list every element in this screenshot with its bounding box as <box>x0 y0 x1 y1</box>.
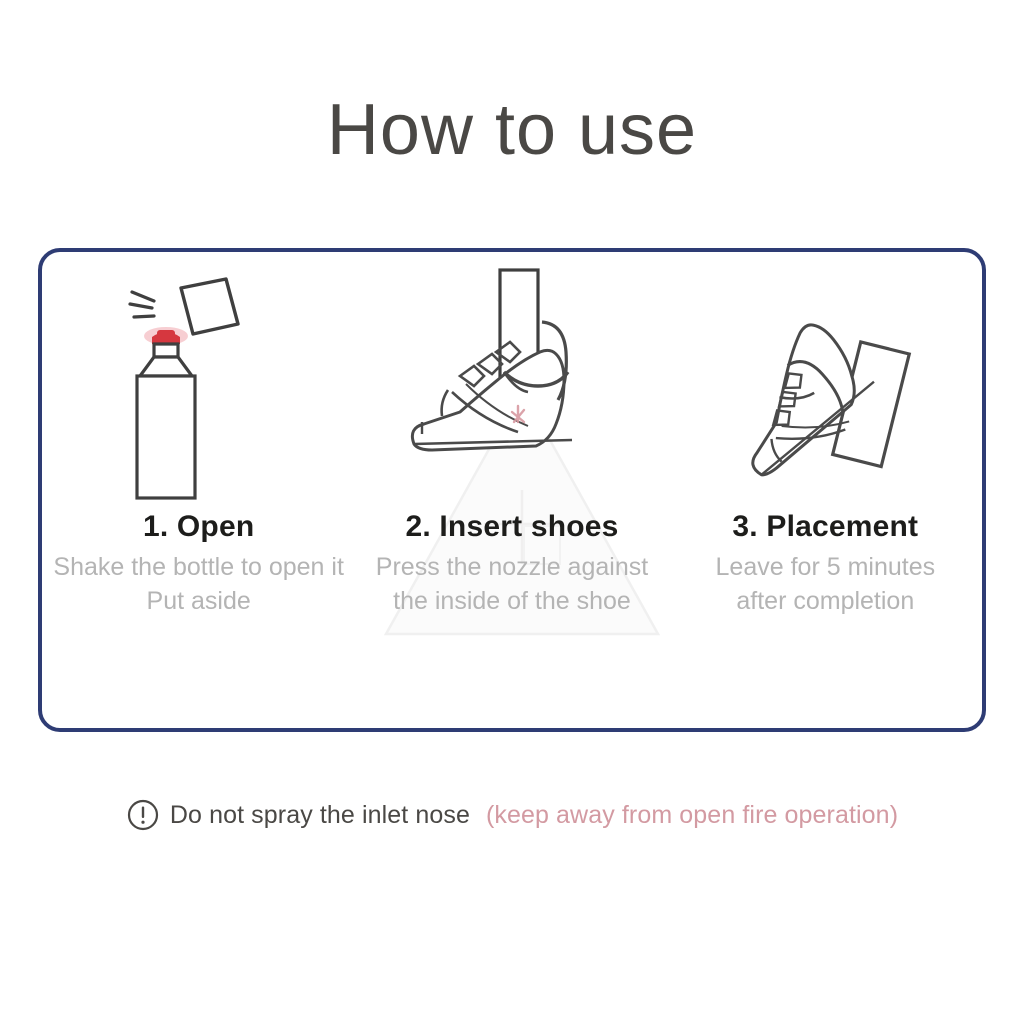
step-1: 1. Open Shake the bottle to open it Put … <box>42 252 355 728</box>
shoe-with-nozzle-inserted-icon <box>355 252 668 504</box>
steps-panel: 1. Open Shake the bottle to open it Put … <box>38 248 986 732</box>
spray-bottle-cap-off-icon <box>42 252 355 504</box>
step-2-description: Press the nozzle against the inside of t… <box>376 550 648 618</box>
warning-row: Do not spray the inlet nose (keep away f… <box>0 798 1024 832</box>
step-1-title: 1. Open <box>143 510 254 544</box>
warning-text: Do not spray the inlet nose <box>170 801 470 830</box>
step-1-description: Shake the bottle to open it Put aside <box>53 550 344 618</box>
shoe-resting-on-bottle-icon <box>669 252 982 504</box>
step-2-title: 2. Insert shoes <box>405 510 618 544</box>
exclamation-circle-icon <box>126 798 160 832</box>
warning-emphasis-text: (keep away from open fire operation) <box>486 801 898 830</box>
step-3-title: 3. Placement <box>732 510 918 544</box>
steps-row: 1. Open Shake the bottle to open it Put … <box>42 252 982 728</box>
step-2: 2. Insert shoes Press the nozzle against… <box>355 252 668 728</box>
step-3-description: Leave for 5 minutes after completion <box>716 550 936 618</box>
step-3: 3. Placement Leave for 5 minutes after c… <box>669 252 982 728</box>
page-title: How to use <box>0 88 1024 172</box>
